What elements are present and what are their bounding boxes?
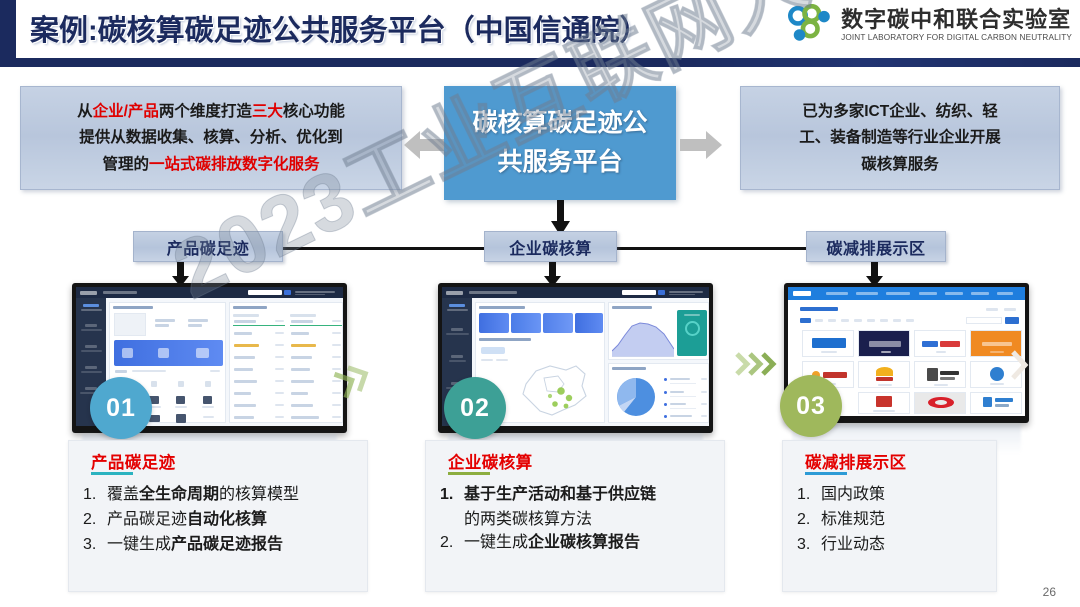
screen-3-logo-tile	[914, 392, 966, 414]
right-description-box: 已为多家ICT企业、纺织、轻 工、装备制造等行业企业开展 碳核算服务	[740, 86, 1060, 190]
card-3-rule	[805, 472, 847, 475]
step-badge-03-label: 03	[796, 392, 826, 421]
screen-3-logo-tile	[858, 361, 910, 388]
screen-3-logo-tile	[858, 392, 910, 414]
left-line1-c: 两个维度打造	[159, 103, 252, 120]
chip-product-carbon-footprint[interactable]: 产品碳足迹	[133, 231, 283, 262]
list-item: 1. 覆盖全生命周期的核算模型	[83, 483, 361, 506]
left-line3-highlight: 一站式碳排放数字化服务	[149, 156, 320, 173]
card-2-item-2-number: 2.	[440, 531, 464, 554]
c1i1-pre: 覆盖	[107, 486, 139, 503]
screen-2-topbar	[442, 287, 709, 298]
list-item: 1. 基于生产活动和基于供应链	[440, 483, 718, 506]
left-box-line-1: 从企业/产品两个维度打造三大核心功能	[77, 104, 345, 120]
card-1-item-3-text: 一键生成产品碳足迹报告	[107, 533, 361, 556]
screen-1-right-panel	[229, 302, 343, 423]
card-3-item-1-text: 国内政策	[821, 483, 990, 506]
gauge-ring-icon	[684, 320, 701, 337]
card-1-rule	[91, 472, 133, 475]
screen-3-logo-tile	[970, 392, 1022, 414]
screen-2-area-chart-panel	[608, 302, 709, 360]
right-box-line-1: 已为多家ICT企业、纺织、轻	[802, 104, 997, 120]
card-3-item-3-text: 行业动态	[821, 533, 990, 556]
page-title: 案例:碳核算碳足迹公共服务平台（中国信通院）	[30, 7, 649, 49]
screen-3-search-input[interactable]	[966, 317, 1002, 324]
slide-canvas: 案例:碳核算碳足迹公共服务平台（中国信通院） 数字碳中和联合实验室 JOINT …	[0, 0, 1080, 607]
card-2-list: 1. 基于生产活动和基于供应链 的两类碳核算方法 2. 一键生成企业碳核算报告	[440, 483, 718, 557]
card-1-item-1-text: 覆盖全生命周期的核算模型	[107, 483, 361, 506]
card-3-item-2-text: 标准规范	[821, 508, 990, 531]
list-item: 3. 行业动态	[797, 533, 990, 556]
feature-card-product-carbon-footprint: 产品碳足迹 1. 覆盖全生命周期的核算模型 2. 产品碳足迹自动化核算 3. 一…	[68, 440, 368, 592]
screen-3-logo-tile	[802, 330, 854, 357]
c1i3-pre: 一键生成	[107, 536, 171, 553]
list-item: 2. 标准规范	[797, 508, 990, 531]
card-1-list: 1. 覆盖全生命周期的核算模型 2. 产品碳足迹自动化核算 3. 一键生成产品碳…	[83, 483, 361, 559]
center-box-line-2: 共服务平台	[497, 150, 622, 175]
chip-carbon-reduction-showcase[interactable]: 碳减排展示区	[806, 231, 946, 262]
left-box-line-3: 管理的一站式碳排放数字化服务	[102, 157, 319, 173]
logo-chinese-name: 数字碳中和联合实验室	[841, 8, 1072, 31]
list-item: 2. 一键生成企业碳核算报告	[440, 531, 718, 554]
feature-card-enterprise-carbon-accounting: 企业碳核算 1. 基于生产活动和基于供应链 的两类碳核算方法 2. 一键生成企业…	[425, 440, 725, 592]
step-badge-02-label: 02	[460, 394, 490, 423]
c2i1-bold: 基于生产活动和基于供应链	[464, 486, 656, 503]
logo-english-name: JOINT LABORATORY FOR DIGITAL CARBON NEUT…	[841, 33, 1072, 42]
chevrons-right-icon	[735, 350, 781, 378]
card-3-title: 碳减排展示区	[805, 449, 906, 473]
card-2-item-2-text: 一键生成企业碳核算报告	[464, 531, 718, 554]
logo-text: 数字碳中和联合实验室 JOINT LABORATORY FOR DIGITAL …	[841, 8, 1072, 42]
card-2-item-1-continuation: 的两类碳核算方法	[464, 508, 718, 531]
card-1-item-2-number: 2.	[83, 508, 107, 531]
card-3-list: 1. 国内政策 2. 标准规范 3. 行业动态	[797, 483, 990, 559]
right-box-line-3: 碳核算服务	[861, 157, 939, 173]
chip-1-label: 产品碳足迹	[167, 235, 250, 259]
c1i2-pre: 产品碳足迹	[107, 511, 187, 528]
c1i1-post: 的核算模型	[219, 486, 299, 503]
card-2-rule	[448, 472, 490, 475]
list-item: 1. 国内政策	[797, 483, 990, 506]
chip-2-label: 企业碳核算	[509, 235, 592, 259]
left-line1-e: 核心功能	[283, 103, 345, 120]
screen-3-logo-tile	[914, 330, 966, 357]
lab-logo: 数字碳中和联合实验室 JOINT LABORATORY FOR DIGITAL …	[788, 4, 1072, 46]
card-3-item-1-number: 1.	[797, 483, 821, 506]
step-badge-03: 03	[780, 375, 842, 437]
card-1-title: 产品碳足迹	[91, 449, 176, 473]
card-2-item-1-text: 基于生产活动和基于供应链	[464, 483, 718, 506]
card-1-item-3-number: 3.	[83, 533, 107, 556]
slide-header: 案例:碳核算碳足迹公共服务平台（中国信通院） 数字碳中和联合实验室 JOINT …	[0, 0, 1080, 58]
center-platform-box: 碳核算碳足迹公 共服务平台	[444, 86, 676, 200]
arrow-right-icon	[680, 128, 722, 162]
arrow-left-icon	[404, 128, 446, 162]
chip-enterprise-carbon-accounting[interactable]: 企业碳核算	[484, 231, 617, 262]
card-2-item-1-number: 1.	[440, 483, 464, 506]
page-number: 26	[1043, 585, 1056, 599]
card-1-item-2-text: 产品碳足迹自动化核算	[107, 508, 361, 531]
step-badge-01-label: 01	[106, 394, 136, 423]
step-badge-01: 01	[90, 377, 152, 439]
card-1-item-1-number: 1.	[83, 483, 107, 506]
left-line1-highlight-1: 企业/产品	[93, 103, 159, 120]
c2i2-bold: 企业碳核算报告	[528, 534, 640, 551]
list-item: 3. 一键生成产品碳足迹报告	[83, 533, 361, 556]
carbon-neutrality-logo-icon	[788, 4, 834, 46]
screen-3-logo-tile	[858, 330, 910, 357]
screen-1-topbar	[76, 287, 343, 298]
c1i3-bold: 产品碳足迹报告	[171, 536, 283, 553]
center-box-line-1: 碳核算碳足迹公	[472, 111, 647, 136]
left-box-line-2: 提供从数据收集、核算、分析、优化到	[79, 130, 343, 146]
left-line1-a: 从	[77, 103, 93, 120]
card-2-title: 企业碳核算	[448, 449, 533, 473]
china-map-icon	[514, 358, 594, 420]
header-accent-stripe	[0, 0, 16, 58]
c1i1-bold: 全生命周期	[139, 486, 219, 503]
screen-3-search-button[interactable]	[1005, 317, 1019, 324]
left-line1-highlight-2: 三大	[252, 103, 283, 120]
header-divider	[0, 58, 1080, 67]
screen-2-pie-panel	[608, 363, 709, 423]
c1i2-bold: 自动化核算	[187, 511, 267, 528]
screen-3-navbar	[788, 287, 1025, 300]
feature-card-carbon-reduction-showcase: 碳减排展示区 1. 国内政策 2. 标准规范 3. 行业动态	[782, 440, 997, 592]
screen-3-page-title	[800, 307, 838, 311]
area-chart-icon	[612, 315, 674, 357]
left-description-box: 从企业/产品两个维度打造三大核心功能 提供从数据收集、核算、分析、优化到 管理的…	[20, 86, 402, 190]
c2i2-pre: 一键生成	[464, 534, 528, 551]
right-box-line-2: 工、装备制造等行业企业开展	[799, 130, 1001, 146]
chip-3-label: 碳减排展示区	[826, 235, 925, 259]
card-3-item-2-number: 2.	[797, 508, 821, 531]
screen-2-gauge-card	[677, 310, 707, 356]
card-3-item-3-number: 3.	[797, 533, 821, 556]
step-badge-02: 02	[444, 377, 506, 439]
screen-3-logo-tile	[914, 361, 966, 388]
pie-chart-icon	[615, 376, 657, 418]
list-item: 2. 产品碳足迹自动化核算	[83, 508, 361, 531]
chevron-right-icon	[1008, 348, 1030, 382]
left-line3-a: 管理的	[102, 156, 149, 173]
